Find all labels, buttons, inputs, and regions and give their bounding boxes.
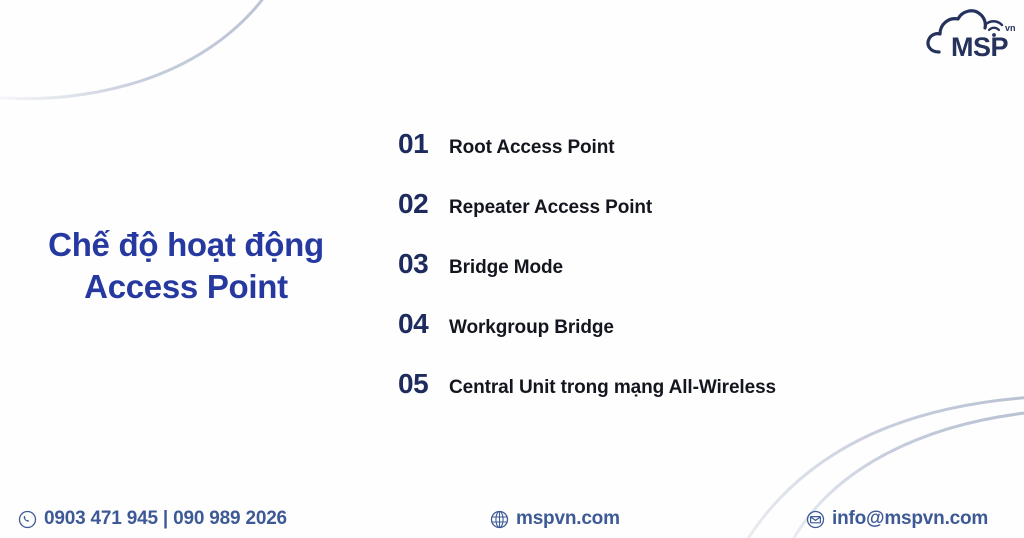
list-item-label: Workgroup Bridge xyxy=(449,317,614,339)
page-title-line-2: Access Point xyxy=(0,266,372,308)
phone-circle-icon xyxy=(18,510,37,529)
list-item: 05 Central Unit trong mạng All-Wireless xyxy=(398,368,978,428)
footer-phone-text: 0903 471 945 | 090 989 2026 xyxy=(44,508,287,530)
footer-website-text: mspvn.com xyxy=(516,508,620,530)
footer-phone[interactable]: 0903 471 945 | 090 989 2026 xyxy=(18,508,287,530)
list-item: 01 Root Access Point xyxy=(398,128,978,188)
globe-icon xyxy=(490,510,509,529)
list-item-number: 03 xyxy=(398,248,440,280)
page-title-line-1: Chế độ hoạt động xyxy=(0,224,372,266)
footer-email[interactable]: info@mspvn.com xyxy=(806,508,988,530)
footer-email-text: info@mspvn.com xyxy=(832,508,988,530)
arc-top-left xyxy=(0,0,262,99)
envelope-icon xyxy=(806,510,825,529)
list-item-number: 05 xyxy=(398,368,440,400)
access-point-mode-list: 01 Root Access Point 02 Repeater Access … xyxy=(398,128,978,428)
logo-superscript: vn xyxy=(1005,23,1016,33)
footer-website[interactable]: mspvn.com xyxy=(490,508,620,530)
list-item-label: Repeater Access Point xyxy=(449,197,652,219)
list-item: 02 Repeater Access Point xyxy=(398,188,978,248)
list-item-label: Bridge Mode xyxy=(449,257,563,279)
list-item: 04 Workgroup Bridge xyxy=(398,308,978,368)
msp-logo: MSP vn xyxy=(925,4,1021,66)
logo-wordmark: MSP xyxy=(951,32,1009,62)
slide-canvas: MSP vn Chế độ hoạt động Access Point 01 … xyxy=(0,0,1024,538)
list-item: 03 Bridge Mode xyxy=(398,248,978,308)
list-item-label: Central Unit trong mạng All-Wireless xyxy=(449,377,776,399)
page-title: Chế độ hoạt động Access Point xyxy=(0,224,372,308)
list-item-number: 01 xyxy=(398,128,440,160)
list-item-label: Root Access Point xyxy=(449,137,614,159)
list-item-number: 02 xyxy=(398,188,440,220)
list-item-number: 04 xyxy=(398,308,440,340)
